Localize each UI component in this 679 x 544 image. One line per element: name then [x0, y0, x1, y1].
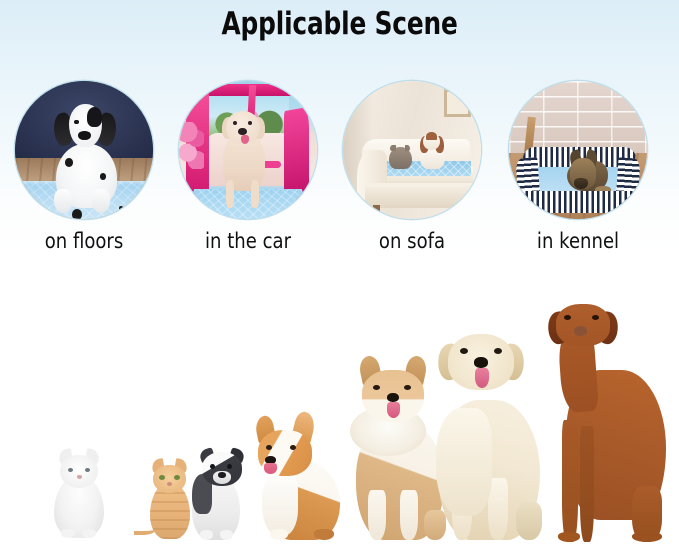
- golden-chest: [436, 408, 492, 516]
- animal-corgi: [248, 404, 344, 540]
- scene-photo-circle-in-kennel: [508, 80, 648, 220]
- shepherd-puppy-snout: [574, 178, 588, 189]
- page-title-container: Applicable Scene: [0, 6, 679, 42]
- vizsla-head: [556, 304, 610, 346]
- dalmatian-head-patch: [87, 107, 102, 126]
- picture-frame: [444, 89, 472, 117]
- vizsla-front-leg: [562, 420, 578, 542]
- golden-tongue: [475, 368, 489, 388]
- scene-photo-circle-on-sofa: [342, 80, 482, 220]
- akita-right-leg: [400, 490, 418, 540]
- cat-nose: [77, 475, 82, 479]
- cat-right-eye: [85, 468, 90, 472]
- corgi-left-eye: [266, 445, 272, 450]
- tabby-head: [153, 465, 186, 493]
- animal-vizsla: [540, 300, 672, 542]
- puppy-left-eye: [210, 464, 215, 469]
- poodle-front-left-leg: [226, 180, 234, 208]
- cat-left-paw: [61, 529, 75, 538]
- striped-bed-front: [520, 191, 636, 213]
- page-title: Applicable Scene: [221, 6, 457, 42]
- scene-label-on-sofa: on sofa: [352, 229, 472, 253]
- scene-label-in-the-car: in the car: [188, 229, 308, 253]
- animal-golden-retriever: [424, 314, 548, 540]
- corgi-chest: [262, 470, 298, 536]
- animal-size-lineup: [0, 274, 679, 544]
- golden-left-eye: [460, 348, 468, 354]
- vizsla-right-eye: [592, 315, 599, 320]
- puppy-left-paw: [200, 530, 213, 540]
- vizsla-left-eye: [564, 315, 571, 320]
- scene-photo-circle-in-the-car: [178, 80, 318, 220]
- scene-photo-circle-on-floors: [14, 80, 154, 220]
- puppy-right-eye: [227, 464, 232, 469]
- puppy-nose: [218, 472, 226, 478]
- animal-orange-tabby-cat: [144, 457, 196, 539]
- car-right-door: [284, 106, 309, 201]
- corgi-right-paw: [314, 529, 334, 540]
- scene-label-on-floors: on floors: [24, 229, 144, 253]
- pink-flower-decor: [179, 122, 204, 169]
- scene-item-on-floors: on floors: [14, 80, 154, 253]
- poodle-front-right-leg: [251, 180, 259, 208]
- tabby-right-eye: [174, 475, 180, 480]
- scene-item-in-kennel: in kennel: [508, 80, 648, 253]
- dalmatian-left-leg: [54, 189, 72, 214]
- corgi-tongue: [264, 463, 277, 474]
- akita-nose: [387, 393, 399, 402]
- poodle-nose: [238, 128, 246, 135]
- animal-white-persian-cat: [48, 452, 110, 538]
- dalmatian-snout: [78, 131, 90, 141]
- cat-head: [60, 455, 98, 488]
- akita-tongue: [387, 402, 400, 418]
- poodle-in-pink-car-photo: [179, 81, 317, 219]
- puppy-right-paw: [220, 530, 233, 540]
- shepherd-puppy-in-kennel-photo: [509, 81, 647, 219]
- cat-left-eye: [68, 468, 73, 472]
- scene-item-on-sofa: on sofa: [342, 80, 482, 253]
- scene-item-in-the-car: in the car: [178, 80, 318, 253]
- akita-right-eye: [404, 385, 411, 390]
- spaniel-head-patch: [426, 132, 437, 140]
- golden-right-eye: [494, 348, 502, 354]
- vizsla-nose: [574, 326, 587, 336]
- golden-hock: [516, 502, 542, 540]
- vizsla-front-paw: [558, 532, 580, 542]
- akita-left-leg: [368, 490, 386, 540]
- vizsla-rear-paw: [632, 532, 662, 542]
- corgi-left-paw: [270, 529, 288, 540]
- tabby-left-eye: [159, 475, 165, 480]
- dalmatian-on-floor-pad-photo: [15, 81, 153, 219]
- corgi-right-eye: [290, 445, 296, 450]
- akita-left-eye: [373, 385, 380, 390]
- vizsla-far-front-leg: [580, 426, 594, 542]
- cat-right-paw: [82, 529, 96, 538]
- blue-pet-pad: [185, 189, 311, 220]
- applicable-scene-infographic: Applicable Scene: [0, 0, 679, 544]
- scene-label-in-kennel: in kennel: [518, 229, 638, 253]
- tabby-nose: [167, 482, 172, 486]
- scene-row: on floors: [0, 80, 679, 258]
- golden-nose: [474, 357, 488, 368]
- tabby-cat: [389, 147, 412, 169]
- cat-and-spaniel-on-sofa-photo: [343, 81, 481, 219]
